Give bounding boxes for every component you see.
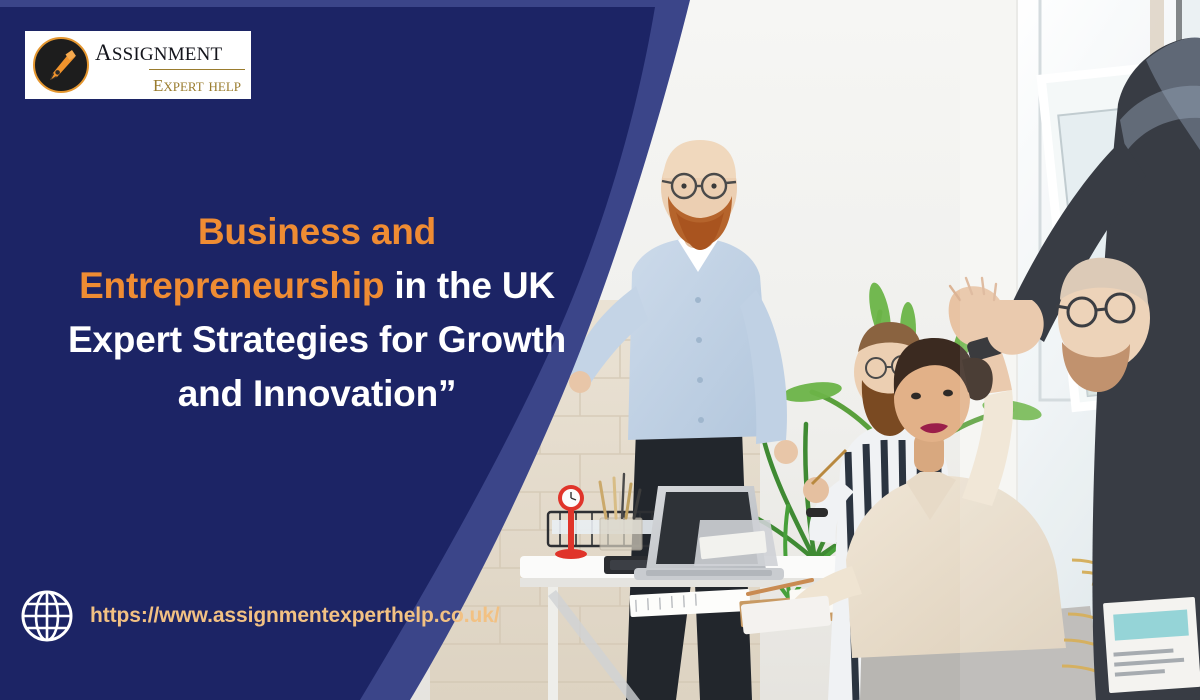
globe-icon (18, 587, 76, 645)
website-url-bar[interactable]: https://www.assignmentexperthelp.co.uk/ (18, 587, 500, 645)
marketing-banner: Assignment Expert help Business and Entr… (0, 0, 1200, 700)
logo-line-assignment: Assignment (95, 34, 245, 67)
fountain-pen-nib-icon (33, 37, 89, 93)
headline-accent-text: Business and Entrepreneurship (79, 211, 436, 306)
brand-logo[interactable]: Assignment Expert help (25, 31, 251, 99)
website-url-text[interactable]: https://www.assignmentexperthelp.co.uk/ (90, 604, 500, 628)
logo-wordmark: Assignment Expert help (95, 34, 245, 97)
logo-line-expert-help: Expert help (95, 72, 245, 96)
page-title: Business and Entrepreneurship in the UK … (62, 205, 572, 421)
logo-divider-rule (149, 69, 245, 71)
